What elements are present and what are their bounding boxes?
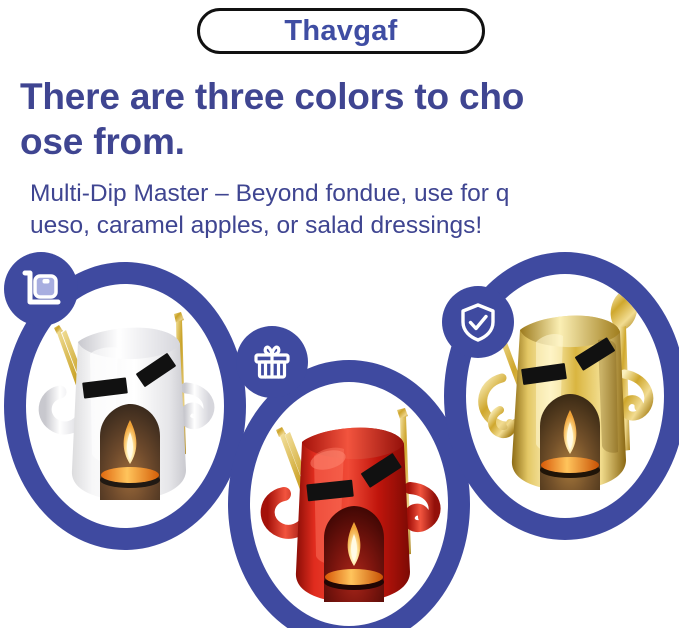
page-title: There are three colors to cho ose from. xyxy=(20,74,660,164)
badge-gift[interactable] xyxy=(236,326,308,398)
page-subtitle: Multi-Dip Master – Beyond fondue, use fo… xyxy=(30,178,650,242)
right-scroll-handle xyxy=(185,388,209,424)
right-scroll-handle xyxy=(409,488,435,526)
red-burner-illustration xyxy=(250,382,448,626)
badge-quality[interactable] xyxy=(442,286,514,358)
package-cart-icon xyxy=(18,266,64,312)
product-color-cluster xyxy=(0,252,679,628)
product-feature-banner: Thavgaf There are three colors to cho os… xyxy=(0,0,679,628)
tealight-candle xyxy=(325,569,383,585)
tealight-candle xyxy=(541,457,599,473)
brand-badge: Thavgaf xyxy=(197,8,485,54)
gift-box-icon xyxy=(250,340,294,384)
tealight-candle xyxy=(101,467,159,483)
badge-shipping[interactable] xyxy=(4,252,78,326)
shield-check-icon xyxy=(456,300,500,344)
brand-name: Thavgaf xyxy=(284,17,397,46)
product-circle-red[interactable] xyxy=(228,360,470,628)
product-image-red xyxy=(250,382,448,626)
